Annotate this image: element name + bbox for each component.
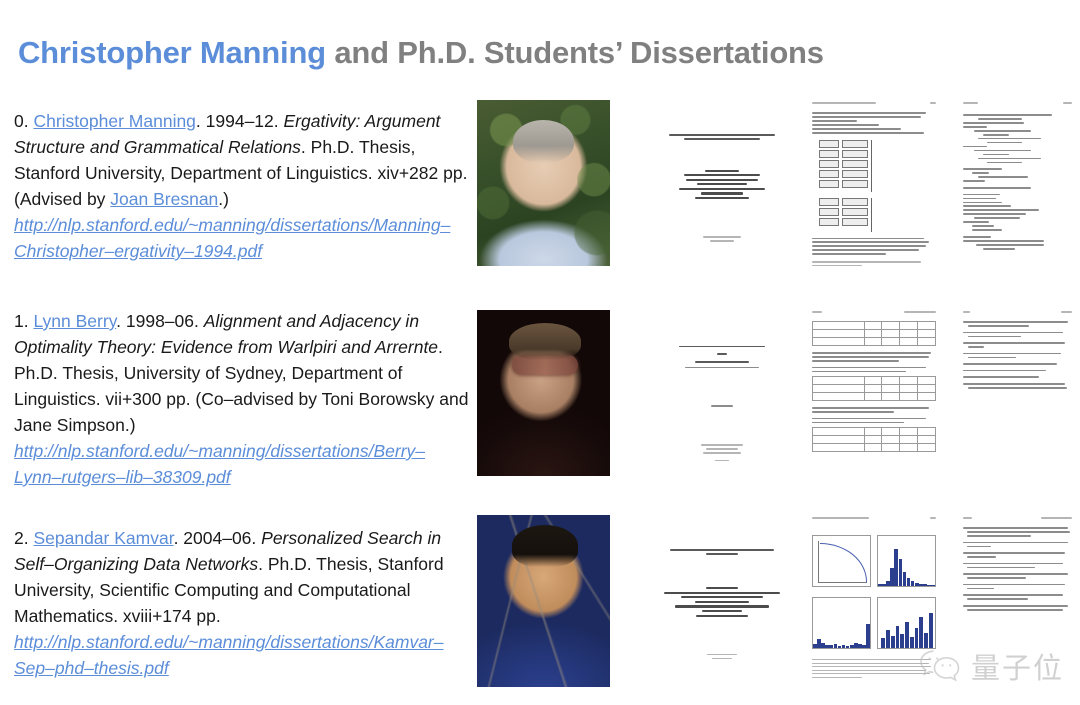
dissertation-title-page-thumbnail[interactable] <box>652 511 792 691</box>
page-title-rest: and Ph.D. Students’ Dissertations <box>326 35 824 70</box>
document-page-preview <box>652 96 792 276</box>
portrait-manning-thumbnail[interactable] <box>477 100 610 266</box>
document-page-preview <box>804 511 944 691</box>
figure-panel <box>812 597 871 649</box>
portrait-kamvar-image <box>477 515 610 687</box>
person-link[interactable]: Christopher Manning <box>33 111 195 131</box>
page-title: Christopher Manning and Ph.D. Students’ … <box>18 35 824 71</box>
person-link[interactable]: Sepandar Kamvar <box>33 528 173 548</box>
entry-date: . 2004–06. <box>174 528 262 548</box>
constraint-table <box>812 321 936 346</box>
portrait-kamvar-thumbnail[interactable] <box>477 515 610 687</box>
entry-citation: 2. Sepandar Kamvar. 2004–06. Personalize… <box>14 525 469 681</box>
entry-pdf-link[interactable]: http://nlp.stanford.edu/~manning/dissert… <box>14 441 425 487</box>
dissertation-bibliography-page-thumbnail[interactable] <box>955 511 1080 691</box>
entry-date: . 1994–12. <box>196 111 284 131</box>
dissertation-tables-page-thumbnail[interactable] <box>804 305 944 485</box>
document-page-preview <box>804 96 944 276</box>
entry-pdf-link[interactable]: http://nlp.stanford.edu/~manning/dissert… <box>14 215 450 261</box>
figure-panel <box>812 535 871 587</box>
constraint-table <box>812 376 936 401</box>
document-page-preview <box>955 511 1080 691</box>
document-page-preview <box>955 96 1080 276</box>
entry-index: 2. <box>14 528 33 548</box>
document-page-preview <box>652 305 792 485</box>
constraint-table <box>812 427 936 452</box>
entry-date: . 1998–06. <box>116 311 204 331</box>
document-page-preview <box>804 305 944 485</box>
portrait-berry-image <box>477 310 610 476</box>
dissertation-content-page-thumbnail[interactable] <box>804 96 944 276</box>
person-link[interactable]: Lynn Berry <box>33 311 116 331</box>
entry-pdf-link[interactable]: http://nlp.stanford.edu/~manning/dissert… <box>14 632 444 678</box>
figure-panel <box>877 597 936 649</box>
entry-index: 1. <box>14 311 33 331</box>
entry-index: 0. <box>14 111 33 131</box>
advisor-link[interactable]: Joan Bresnan <box>110 189 218 209</box>
dissertation-index-page-thumbnail[interactable] <box>955 96 1080 276</box>
dissertation-references-page-thumbnail[interactable] <box>955 305 1080 485</box>
document-page-preview <box>652 511 792 691</box>
dissertation-title-page-thumbnail[interactable] <box>652 96 792 276</box>
document-page-preview <box>955 305 1080 485</box>
figure-panel <box>877 535 936 587</box>
entry-citation: 0. Christopher Manning. 1994–12. Ergativ… <box>14 108 469 264</box>
entry-citation: 1. Lynn Berry. 1998–06. Alignment and Ad… <box>14 308 469 490</box>
dissertation-title-page-thumbnail[interactable] <box>652 305 792 485</box>
portrait-manning-image <box>477 100 610 266</box>
page-title-highlight: Christopher Manning <box>18 35 326 70</box>
dissertation-figures-page-thumbnail[interactable] <box>804 511 944 691</box>
entry-details-post: .) <box>218 189 229 209</box>
portrait-berry-thumbnail[interactable] <box>477 310 610 476</box>
